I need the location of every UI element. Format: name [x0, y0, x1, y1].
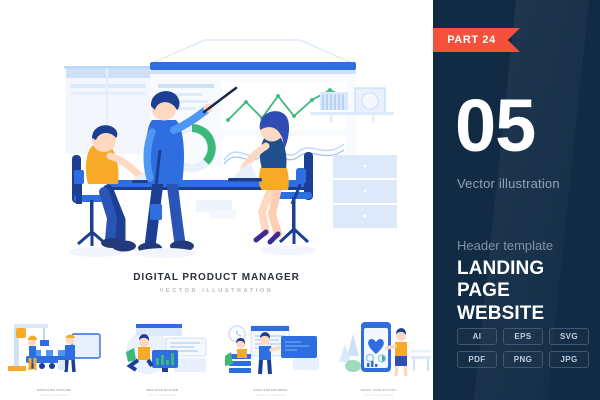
info-panel: PART 24 05 Vector illustration Header te… — [433, 0, 600, 400]
thumb-3-svg — [217, 312, 325, 382]
thumb-4-svg — [325, 312, 433, 382]
page-title: DIGITAL PRODUCT MANAGER — [0, 272, 433, 283]
thumbnail-subcaption: VECTOR ILLUSTRATION — [325, 395, 433, 397]
thumbnail-subcaption: VECTOR ILLUSTRATION — [217, 395, 325, 397]
thumb-1-svg — [0, 312, 108, 382]
format-badge-eps[interactable]: EPS — [503, 328, 543, 345]
landing-page-title: LANDING PAGE WEBSITE — [457, 258, 600, 325]
format-badge-png[interactable]: PNG — [503, 351, 543, 368]
thumbnail-caption: OPERATING MACHINE — [0, 389, 108, 392]
poster-canvas: DIGITAL PRODUCT MANAGER VECTOR ILLUSTRAT… — [0, 0, 600, 400]
thumbnail-back-end-engineer[interactable]: BACK END ENGINEER VECTOR ILLUSTRATION — [217, 312, 325, 400]
thumbnail-subcaption: VECTOR ILLUSTRATION — [0, 395, 108, 397]
page-subtitle: VECTOR ILLUSTRATION — [0, 288, 433, 294]
format-badge-jpg[interactable]: JPG — [549, 351, 589, 368]
header-template-label: Header template — [457, 238, 553, 253]
thumbnail-subcaption: VECTOR ILLUSTRATION — [108, 395, 216, 397]
drawer-cabinet — [333, 155, 397, 228]
thumbnail-track-your-activity[interactable]: TRACK YOUR ACTIVITY VECTOR ILLUSTRATION — [325, 312, 433, 400]
ribbon-label: PART 24 — [447, 34, 505, 46]
issue-number: 05 — [455, 92, 535, 160]
format-badge-pdf[interactable]: PDF — [457, 351, 497, 368]
thumbnail-caption: TRACK YOUR ACTIVITY — [325, 389, 433, 392]
vector-illustration-label: Vector illustration — [457, 176, 560, 191]
hero-illustration: DIGITAL PRODUCT MANAGER VECTOR ILLUSTRAT… — [0, 0, 433, 310]
thumbnail-web-page-builder[interactable]: WEB PAGE BUILDER VECTOR ILLUSTRATION — [108, 312, 216, 400]
hero-scene-svg — [0, 0, 433, 310]
thumbnail-row: OPERATING MACHINE VECTOR ILLUSTRATION — [0, 312, 433, 400]
format-badge-list: AI EPS SVG PDF PNG JPG — [457, 328, 591, 368]
thumbnail-operating-machine[interactable]: OPERATING MACHINE VECTOR ILLUSTRATION — [0, 312, 108, 400]
thumbnail-caption: WEB PAGE BUILDER — [108, 389, 216, 392]
thumbnail-caption: BACK END ENGINEER — [217, 389, 325, 392]
format-badge-svg[interactable]: SVG — [549, 328, 589, 345]
thumb-2-svg — [108, 312, 216, 382]
format-badge-ai[interactable]: AI — [457, 328, 497, 345]
part-ribbon: PART 24 — [433, 28, 520, 52]
